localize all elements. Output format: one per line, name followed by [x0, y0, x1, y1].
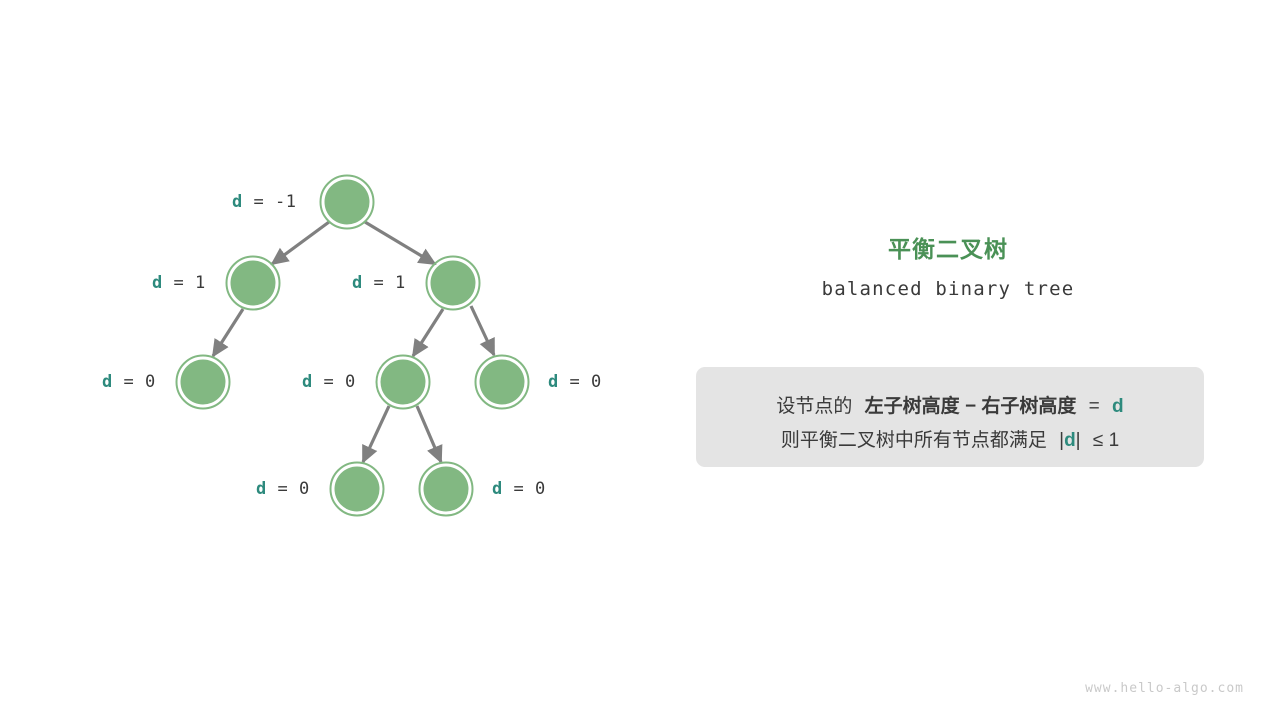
tree-node[interactable]: [427, 257, 480, 310]
node-balance-label: d = 1: [352, 273, 406, 293]
binary-tree-diagram: d = -1 d = 1 d = 1 d = 0 d = 0 d = 0 d =…: [0, 0, 660, 720]
node-balance-label: d = 0: [302, 372, 356, 392]
tree-edge: [365, 222, 435, 264]
tree-edge: [417, 406, 441, 462]
definition-line-2: 则平衡二叉树中所有节点都满足 |d| ≤ 1: [696, 425, 1204, 452]
balance-variable: d: [352, 273, 363, 293]
tree-edges: [213, 222, 494, 462]
abs-bar-close: |: [1076, 430, 1081, 451]
definition-equals: =: [1089, 396, 1100, 417]
definition-relation: ≤ 1: [1093, 430, 1119, 451]
balance-equation: = 0: [113, 372, 156, 392]
tree-node[interactable]: [177, 356, 230, 409]
tree-node[interactable]: [377, 356, 430, 409]
tree-edge: [363, 406, 389, 462]
tree-graphics: [0, 0, 660, 720]
tree-edge: [213, 309, 243, 356]
panel-subtitle: balanced binary tree: [660, 278, 1236, 300]
panel-title: 平衡二叉树: [660, 230, 1236, 264]
node-balance-label: d = 0: [256, 479, 310, 499]
definition-variable: d: [1064, 430, 1076, 451]
balance-variable: d: [232, 192, 243, 212]
node-balance-label: d = 1: [152, 273, 206, 293]
balance-equation: = 0: [503, 479, 546, 499]
balance-equation: = 1: [363, 273, 406, 293]
tree-nodes: [177, 176, 529, 516]
node-balance-label: d = -1: [232, 192, 296, 212]
tree-node[interactable]: [321, 176, 374, 229]
definition-prefix: 设节点的: [776, 396, 852, 417]
definition-variable: d: [1112, 396, 1124, 417]
definition-box: 设节点的 左子树高度 − 右子树高度 = d 则平衡二叉树中所有节点都满足 |d…: [696, 367, 1204, 467]
balance-equation: = 0: [313, 372, 356, 392]
tree-node[interactable]: [476, 356, 529, 409]
node-balance-label: d = 0: [548, 372, 602, 392]
node-balance-label: d = 0: [492, 479, 546, 499]
balance-variable: d: [256, 479, 267, 499]
balance-variable: d: [492, 479, 503, 499]
tree-edge: [471, 306, 494, 355]
definition-prefix: 则平衡二叉树中所有节点都满足: [781, 430, 1047, 451]
tree-node[interactable]: [331, 463, 384, 516]
tree-node[interactable]: [227, 257, 280, 310]
balance-variable: d: [102, 372, 113, 392]
balance-variable: d: [302, 372, 313, 392]
node-balance-label: d = 0: [102, 372, 156, 392]
tree-edge: [272, 222, 329, 264]
balance-equation: = 0: [559, 372, 602, 392]
balance-variable: d: [152, 273, 163, 293]
balance-equation: = -1: [243, 192, 297, 212]
definition-emphasis: 左子树高度 − 右子树高度: [865, 396, 1077, 417]
balance-equation: = 0: [267, 479, 310, 499]
tree-edge: [413, 309, 443, 356]
watermark: www.hello-algo.com: [1085, 681, 1244, 696]
tree-node[interactable]: [420, 463, 473, 516]
balance-equation: = 1: [163, 273, 206, 293]
info-panel: 平衡二叉树 balanced binary tree 设节点的 左子树高度 − …: [660, 0, 1280, 720]
balance-variable: d: [548, 372, 559, 392]
definition-line-1: 设节点的 左子树高度 − 右子树高度 = d: [696, 391, 1204, 418]
